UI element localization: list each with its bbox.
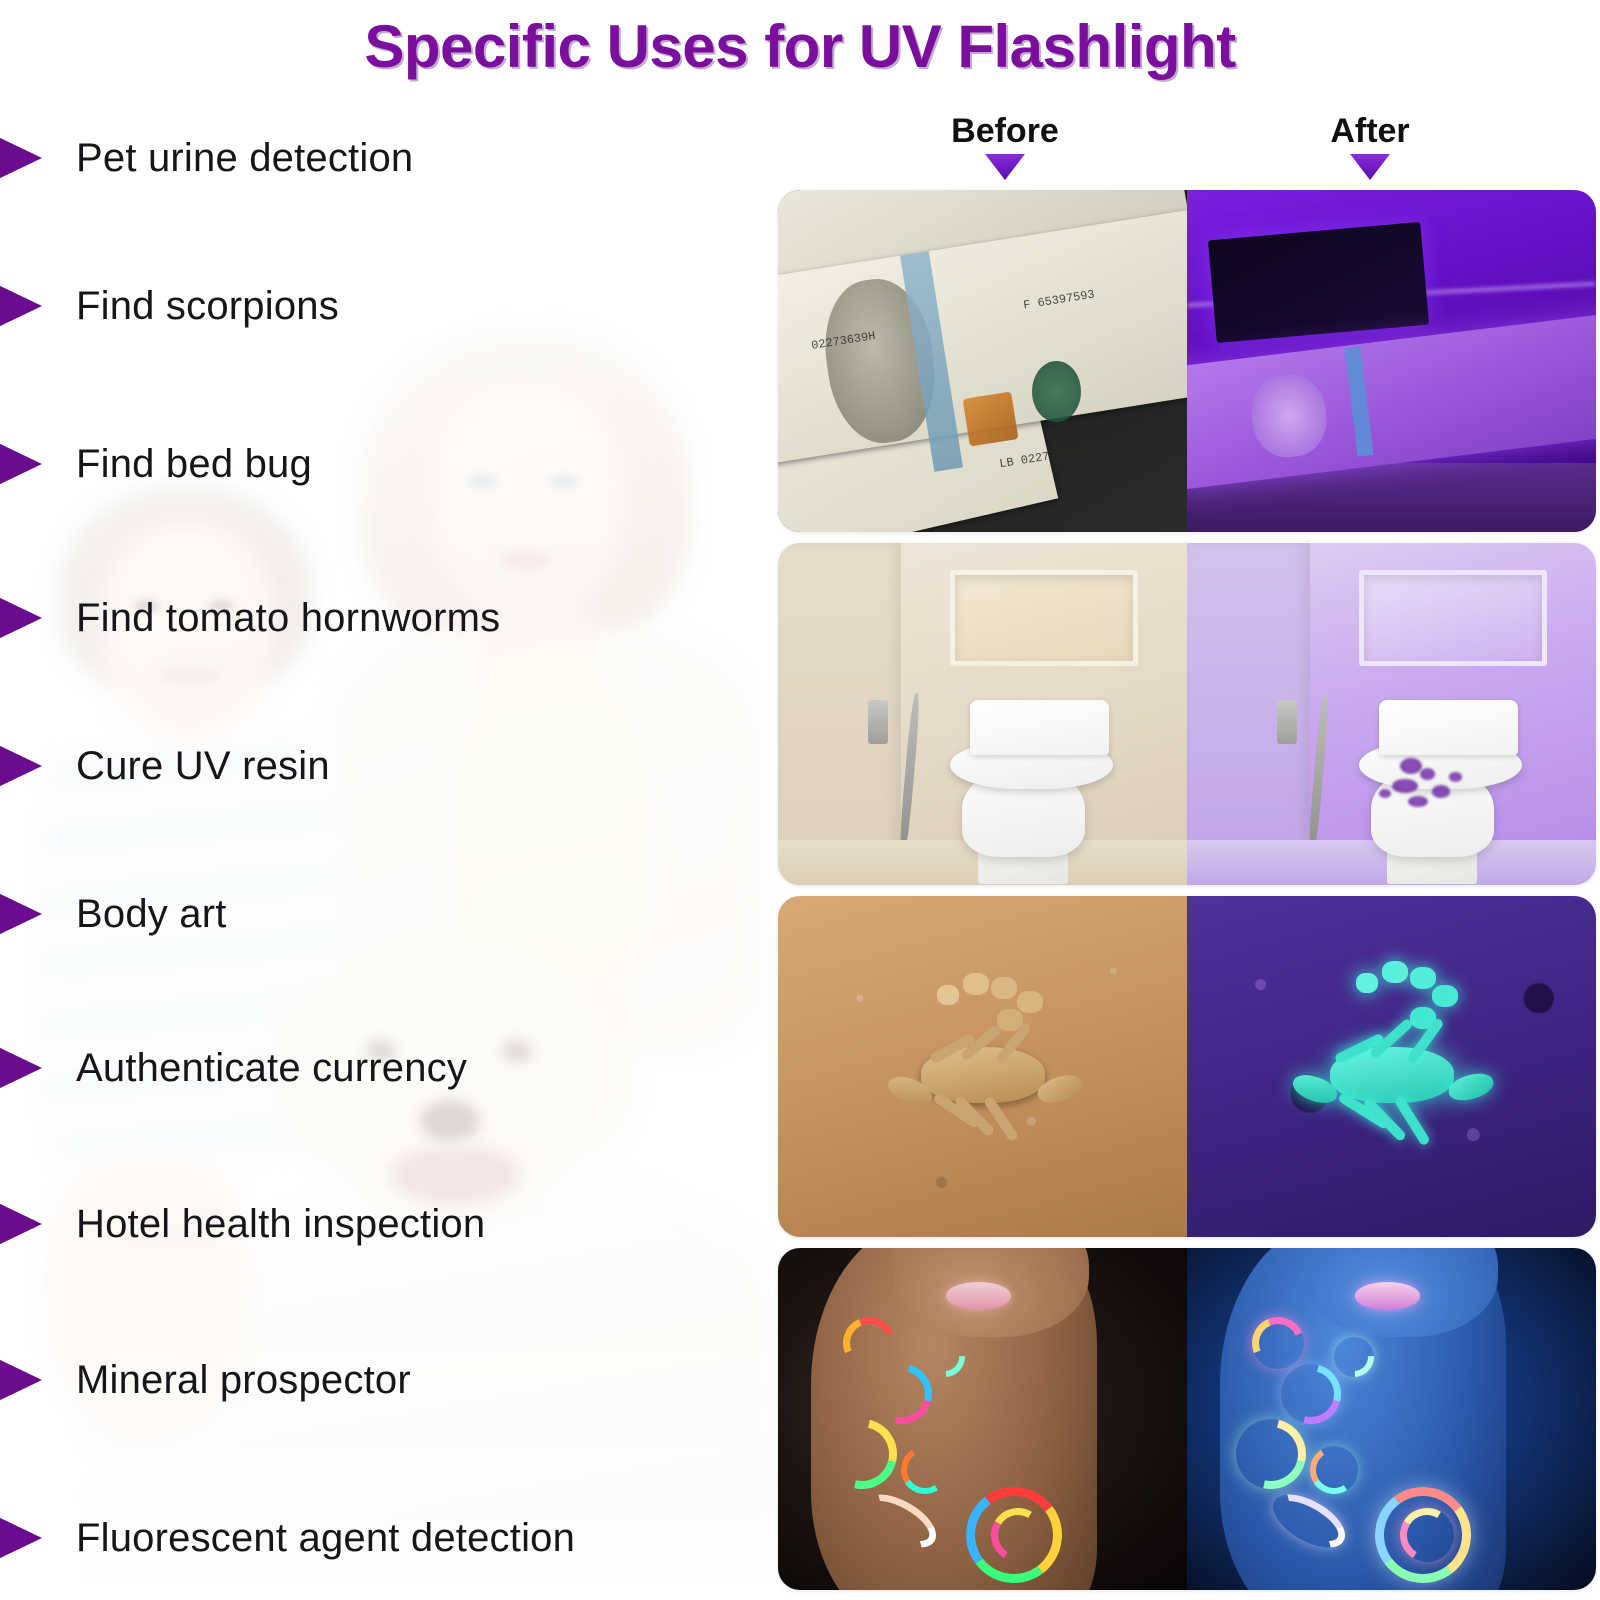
page-title-bar: Specific Uses for UV Flashlight	[0, 0, 1600, 92]
list-item-label: Hotel health inspection	[76, 1202, 485, 1247]
toilet-tank	[970, 700, 1109, 755]
list-item-label: Body art	[76, 892, 227, 937]
down-triangle-icon	[985, 154, 1025, 180]
list-item-mineral-prospector[interactable]: Mineral prospector	[0, 1350, 411, 1410]
uv-stain	[1408, 796, 1428, 807]
uv-stain	[1392, 779, 1418, 793]
list-item-find-bed-bug[interactable]: Find bed bug	[0, 434, 312, 494]
list-item-label: Find tomato hornworms	[76, 596, 500, 641]
right-triangle-arrow-icon	[0, 594, 42, 642]
list-item-cure-uv-resin[interactable]: Cure UV resin	[0, 736, 330, 796]
sprayer-hose	[1307, 693, 1330, 857]
scorpion-tail-segment	[1382, 961, 1408, 983]
list-item-pet-urine-detection[interactable]: Pet urine detection	[0, 128, 413, 188]
right-triangle-arrow-icon	[0, 1356, 42, 1404]
after-image-banknotes-uv	[1187, 190, 1596, 532]
model-lips	[946, 1282, 1011, 1309]
scorpion-stinger	[1356, 973, 1378, 993]
before-image-scorpion	[778, 896, 1187, 1238]
before-image-banknotes: 02273639H F 65397593 LB 02273639 H	[778, 190, 1187, 532]
list-item-find-scorpions[interactable]: Find scorpions	[0, 276, 339, 336]
toilet-tank	[1379, 700, 1518, 755]
bidet-sprayer	[868, 700, 888, 744]
after-image-body-art-uv	[1187, 1248, 1596, 1590]
down-triangle-icon	[1350, 154, 1390, 180]
before-column-header: Before	[855, 112, 1155, 180]
comparison-row-banknotes: 02273639H F 65397593 LB 02273639 H	[778, 190, 1596, 532]
list-item-label: Authenticate currency	[76, 1046, 467, 1091]
right-triangle-arrow-icon	[0, 1044, 42, 1092]
inkwell-motif	[963, 392, 1019, 447]
list-item-label: Cure UV resin	[76, 744, 330, 789]
before-after-image-grid: 02273639H F 65397593 LB 02273639 H	[778, 190, 1596, 1590]
after-column-header: After	[1220, 112, 1520, 180]
scorpion-tail-segment	[1432, 985, 1458, 1007]
dark-uv-lamp-bar	[1207, 222, 1428, 343]
comparison-row-bathroom	[778, 543, 1596, 885]
list-item-authenticate-currency[interactable]: Authenticate currency	[0, 1038, 467, 1098]
list-item-label: Find bed bug	[76, 442, 312, 487]
scorpion-tail-segment	[1410, 967, 1436, 989]
wall-niche	[1359, 570, 1547, 666]
wall-niche	[950, 570, 1138, 666]
right-triangle-arrow-icon	[0, 1514, 42, 1562]
right-triangle-arrow-icon	[0, 890, 42, 938]
right-triangle-arrow-icon	[0, 742, 42, 790]
bidet-sprayer	[1277, 700, 1297, 744]
treasury-seal	[1032, 361, 1081, 423]
scorpion-tail-segment	[991, 977, 1017, 999]
right-triangle-arrow-icon	[0, 134, 42, 182]
uv-stain	[1379, 789, 1391, 798]
scorpion-tail-segment	[1017, 991, 1043, 1013]
list-item-label: Mineral prospector	[76, 1358, 411, 1403]
list-item-body-art[interactable]: Body art	[0, 884, 227, 944]
before-label: Before	[855, 112, 1155, 150]
model-lips	[1355, 1282, 1420, 1309]
list-item-hotel-health-inspection[interactable]: Hotel health inspection	[0, 1194, 485, 1254]
after-image-bathroom-uv	[1187, 543, 1596, 885]
before-after-header: Before After	[770, 112, 1600, 190]
scorpion-tail-segment	[963, 973, 989, 995]
after-image-scorpion-uv	[1187, 896, 1596, 1238]
right-triangle-arrow-icon	[0, 440, 42, 488]
list-item-label: Fluorescent agent detection	[76, 1516, 575, 1561]
page-title: Specific Uses for UV Flashlight	[364, 12, 1235, 81]
list-item-find-tomato-hornworms[interactable]: Find tomato hornworms	[0, 588, 500, 648]
before-image-bathroom	[778, 543, 1187, 885]
scorpion-stinger	[937, 985, 959, 1005]
comparison-row-scorpion	[778, 896, 1596, 1238]
list-item-label: Pet urine detection	[76, 136, 413, 181]
right-triangle-arrow-icon	[0, 1200, 42, 1248]
after-label: After	[1220, 112, 1520, 150]
list-item-label: Find scorpions	[76, 284, 339, 329]
right-triangle-arrow-icon	[0, 282, 42, 330]
uv-stain	[1400, 758, 1422, 774]
uses-list: Pet urine detection Find scorpions Find …	[0, 116, 770, 1600]
sprayer-hose	[898, 693, 921, 857]
comparison-row-body-art	[778, 1248, 1596, 1590]
list-item-fluorescent-agent-detection[interactable]: Fluorescent agent detection	[0, 1508, 575, 1568]
before-image-body-art	[778, 1248, 1187, 1590]
uv-stain	[1449, 772, 1462, 782]
